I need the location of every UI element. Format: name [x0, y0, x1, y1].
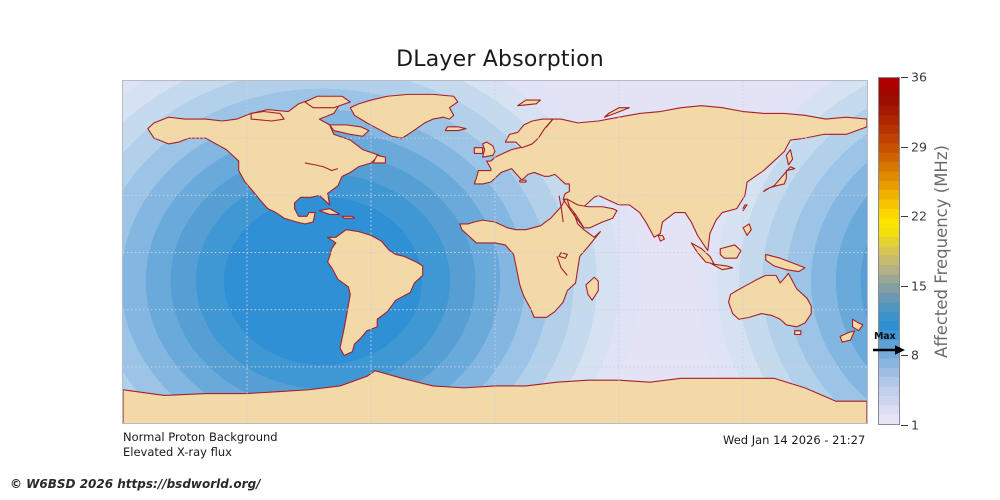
landmass-india-sri-lanka [658, 235, 664, 241]
colorbar-tick-label: 1 [911, 418, 919, 433]
landmass-cuba [319, 209, 340, 215]
colorbar-axis-label: Affected Frequency (MHz) [928, 77, 954, 425]
arrow-right-icon [873, 344, 907, 356]
colorbar-gradient [878, 77, 900, 425]
landmass-new-zealand-n [852, 319, 862, 330]
copyright-notice: © W6BSD 2026 https://bsdworld.org/ [10, 477, 261, 491]
landmass-indonesia-borneo [720, 245, 741, 258]
landmass-sumatra [691, 243, 714, 264]
timestamp: Wed Jan 14 2026 - 21:27 [723, 433, 865, 447]
max-absorption-marker: Max [872, 331, 912, 357]
max-absorption-marker-label: Max [874, 331, 895, 342]
landmass-south-america [328, 230, 423, 356]
landmass-victoria-isl [251, 112, 284, 121]
note-proton-background: Normal Proton Background [123, 430, 278, 444]
landmass-new-guinea [766, 254, 805, 271]
colorbar-tick-label: 36 [911, 70, 927, 85]
colorbar-tick-mark [901, 77, 908, 78]
landmass-sakhalin [786, 150, 792, 165]
colorbar-tick-label: 22 [911, 209, 927, 224]
landmass-japan [764, 167, 795, 192]
landmass-taiwan [743, 205, 747, 211]
colorbar-tick-label: 29 [911, 139, 927, 154]
colorbar-tick-mark [901, 425, 908, 426]
landmass-ireland [474, 148, 482, 154]
landmass-sicily [520, 180, 526, 182]
colorbar-axis-label-text: Affected Frequency (MHz) [932, 145, 951, 358]
colorbar-tick-label: 8 [911, 348, 919, 363]
landmass-new-zealand-s [840, 331, 854, 342]
colorbar-tick-mark [901, 286, 908, 287]
colorbar[interactable] [878, 77, 900, 425]
landmass-hispaniola [342, 216, 354, 218]
world-map-panel[interactable] [122, 80, 868, 424]
dlayer-absorption-map-figure: DLayer Absorption 3629221581 Affected Fr… [0, 0, 1000, 500]
landmass-madagascar [586, 277, 598, 300]
landmass-philippines [743, 224, 751, 235]
colorbar-tick-mark [901, 147, 908, 148]
landmass-java [712, 264, 733, 270]
coastline-layer [123, 81, 867, 424]
landmass-australia [729, 273, 812, 326]
colorbar-tick-label: 15 [911, 278, 927, 293]
landmass-iceland [445, 127, 466, 131]
colorbar-tick-mark [901, 216, 908, 217]
landmass-svalbard [518, 100, 541, 106]
page-title: DLayer Absorption [0, 47, 1000, 72]
landmass-ellesmere [305, 96, 350, 107]
landmass-antarctica [123, 371, 867, 424]
landmass-british-isles [483, 142, 495, 157]
note-xray-flux: Elevated X-ray flux [123, 445, 232, 459]
landmass-tasmania [795, 331, 801, 335]
